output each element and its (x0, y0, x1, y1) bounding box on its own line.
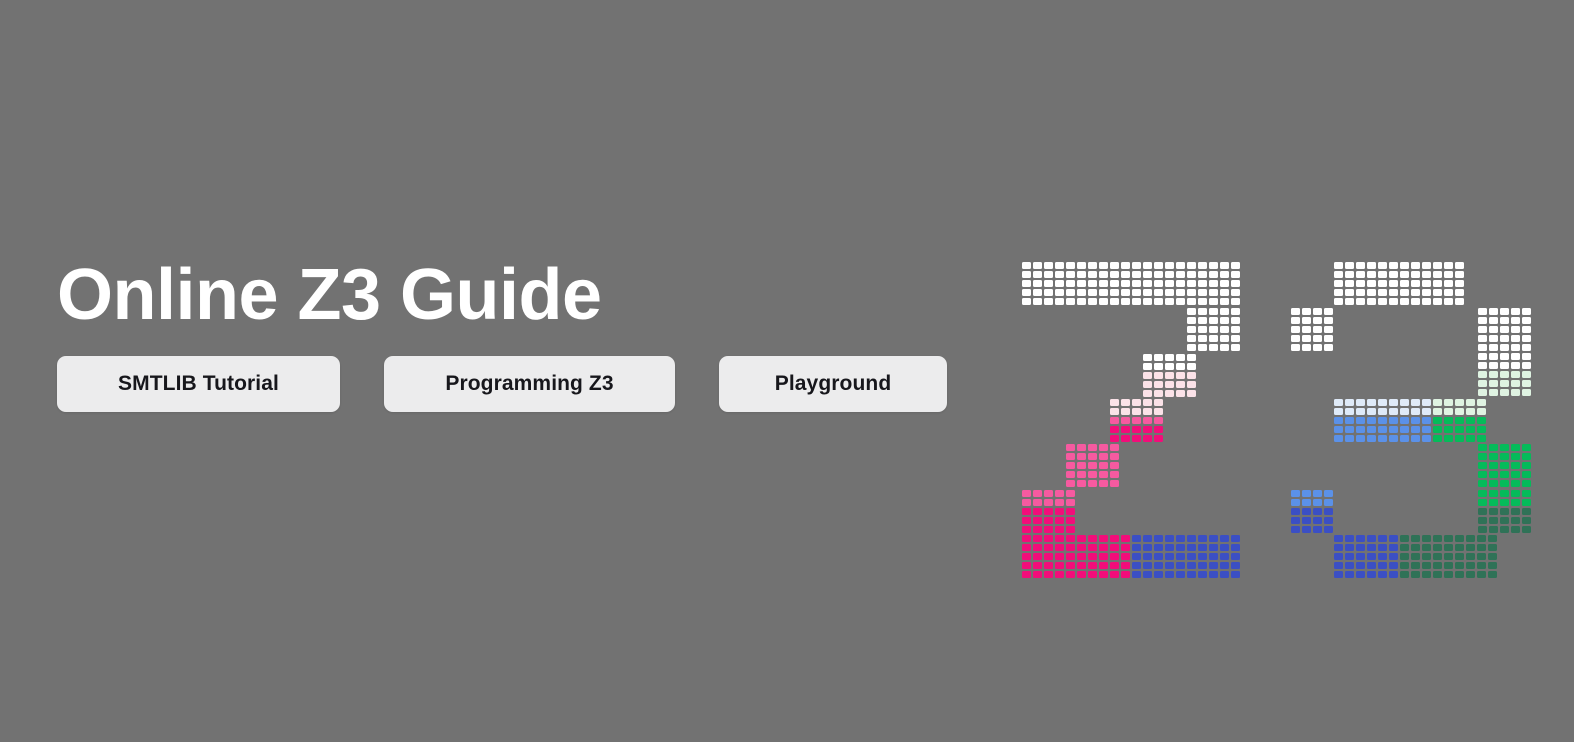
logo-pixel (1077, 562, 1086, 569)
logo-pixel (1110, 571, 1119, 578)
logo-pixel (1154, 298, 1163, 305)
logo-pixel (1055, 526, 1064, 533)
logo-pixel (1367, 562, 1376, 569)
logo-pixel (1334, 435, 1343, 442)
logo-pixel (1478, 317, 1487, 324)
logo-pixel (1022, 280, 1031, 287)
logo-pixel (1022, 271, 1031, 278)
logo-pixel (1367, 535, 1376, 542)
logo-pixel (1511, 471, 1520, 478)
logo-pixel (1143, 390, 1152, 397)
playground-button[interactable]: Playground (719, 356, 947, 412)
logo-pixel (1209, 535, 1218, 542)
logo-pixel (1165, 298, 1174, 305)
logo-pixel (1324, 490, 1333, 497)
logo-pixel (1488, 553, 1497, 560)
logo-pixel (1055, 262, 1064, 269)
logo-pixel (1466, 544, 1475, 551)
logo-pixel (1500, 490, 1509, 497)
logo-pixel (1378, 426, 1387, 433)
logo-pixel (1367, 289, 1376, 296)
logo-pixel (1345, 535, 1354, 542)
logo-pixel (1110, 435, 1119, 442)
logo-pixel (1389, 298, 1398, 305)
logo-pixel (1444, 262, 1453, 269)
logo-pixel (1066, 271, 1075, 278)
logo-pixel (1055, 535, 1064, 542)
logo-pixel (1198, 535, 1207, 542)
logo-pixel (1154, 354, 1163, 361)
logo-pixel (1455, 408, 1464, 415)
logo-pixel (1411, 435, 1420, 442)
logo-pixel (1345, 408, 1354, 415)
logo-pixel (1121, 535, 1130, 542)
logo-pixel (1176, 280, 1185, 287)
logo-pixel (1367, 399, 1376, 406)
logo-pixel (1198, 280, 1207, 287)
logo-pixel (1154, 417, 1163, 424)
logo-pixel (1088, 271, 1097, 278)
logo-block-3-top-bar (1334, 262, 1464, 305)
logo-pixel (1132, 571, 1141, 578)
programming-z3-button[interactable]: Programming Z3 (384, 356, 675, 412)
logo-pixel (1044, 544, 1053, 551)
logo-pixel (1302, 308, 1311, 315)
logo-pixel (1400, 544, 1409, 551)
logo-pixel (1121, 289, 1130, 296)
logo-pixel (1511, 444, 1520, 451)
logo-pixel (1231, 326, 1240, 333)
logo-pixel (1356, 544, 1365, 551)
logo-pixel (1477, 544, 1486, 551)
logo-pixel (1367, 417, 1376, 424)
logo-pixel (1088, 262, 1097, 269)
logo-pixel (1334, 571, 1343, 578)
logo-pixel (1400, 426, 1409, 433)
logo-pixel (1165, 571, 1174, 578)
logo-pixel (1356, 571, 1365, 578)
logo-pixel (1088, 298, 1097, 305)
logo-pixel (1209, 317, 1218, 324)
logo-pixel (1099, 535, 1108, 542)
logo-pixel (1500, 353, 1509, 360)
logo-pixel (1165, 544, 1174, 551)
logo-pixel (1455, 435, 1464, 442)
logo-pixel (1143, 262, 1152, 269)
logo-pixel (1044, 517, 1053, 524)
logo-pixel (1165, 280, 1174, 287)
logo-pixel (1500, 499, 1509, 506)
logo-pixel (1400, 271, 1409, 278)
logo-pixel (1110, 426, 1119, 433)
logo-pixel (1187, 262, 1196, 269)
logo-pixel (1220, 262, 1229, 269)
logo-pixel (1066, 535, 1075, 542)
logo-pixel (1489, 362, 1498, 369)
logo-pixel (1176, 381, 1185, 388)
logo-pixel (1334, 408, 1343, 415)
logo-pixel (1110, 399, 1119, 406)
logo-pixel (1231, 317, 1240, 324)
logo-pixel (1198, 298, 1207, 305)
logo-block-z-bottom-bar-left (1022, 535, 1130, 578)
logo-pixel (1132, 417, 1141, 424)
logo-pixel (1367, 271, 1376, 278)
logo-pixel (1334, 262, 1343, 269)
logo-pixel (1198, 562, 1207, 569)
logo-pixel (1302, 517, 1311, 524)
logo-pixel (1121, 571, 1130, 578)
logo-block-z-top-bar (1022, 262, 1240, 305)
logo-pixel (1176, 298, 1185, 305)
logo-pixel (1500, 362, 1509, 369)
logo-pixel (1066, 462, 1075, 469)
logo-pixel (1511, 508, 1520, 515)
logo-pixel (1176, 535, 1185, 542)
logo-pixel (1165, 553, 1174, 560)
logo-pixel (1187, 308, 1196, 315)
logo-pixel (1154, 426, 1163, 433)
logo-pixel (1378, 399, 1387, 406)
logo-pixel (1356, 408, 1365, 415)
logo-pixel (1176, 363, 1185, 370)
logo-pixel (1187, 326, 1196, 333)
logo-pixel (1367, 262, 1376, 269)
logo-pixel (1466, 535, 1475, 542)
logo-block-z-step-3 (1066, 444, 1119, 487)
logo-pixel (1500, 389, 1509, 396)
logo-pixel (1522, 471, 1531, 478)
logo-pixel (1033, 562, 1042, 569)
logo-pixel (1066, 480, 1075, 487)
logo-pixel (1291, 517, 1300, 524)
logo-pixel (1121, 426, 1130, 433)
logo-pixel (1154, 553, 1163, 560)
logo-pixel (1334, 280, 1343, 287)
logo-pixel (1154, 390, 1163, 397)
logo-pixel (1356, 280, 1365, 287)
logo-pixel (1356, 417, 1365, 424)
logo-pixel (1165, 271, 1174, 278)
logo-pixel (1165, 562, 1174, 569)
logo-pixel (1187, 335, 1196, 342)
logo-pixel (1489, 444, 1498, 451)
logo-pixel (1334, 535, 1343, 542)
logo-pixel (1389, 426, 1398, 433)
logo-pixel (1422, 417, 1431, 424)
logo-pixel (1220, 271, 1229, 278)
logo-pixel (1324, 335, 1333, 342)
logo-pixel (1324, 499, 1333, 506)
logo-pixel (1099, 553, 1108, 560)
logo-pixel (1444, 280, 1453, 287)
logo-pixel (1367, 408, 1376, 415)
logo-pixel (1389, 435, 1398, 442)
logo-pixel (1154, 562, 1163, 569)
logo-pixel (1165, 535, 1174, 542)
logo-pixel (1455, 289, 1464, 296)
logo-pixel (1220, 289, 1229, 296)
logo-pixel (1055, 280, 1064, 287)
logo-pixel (1121, 435, 1130, 442)
logo-pixel (1477, 408, 1486, 415)
logo-pixel (1455, 571, 1464, 578)
logo-pixel (1345, 417, 1354, 424)
logo-pixel (1511, 335, 1520, 342)
logo-block-z-step-4 (1022, 490, 1075, 533)
logo-pixel (1489, 308, 1498, 315)
logo-pixel (1444, 289, 1453, 296)
logo-pixel (1143, 417, 1152, 424)
logo-pixel (1132, 426, 1141, 433)
logo-pixel (1345, 553, 1354, 560)
logo-pixel (1389, 280, 1398, 287)
logo-pixel (1500, 480, 1509, 487)
logo-pixel (1522, 462, 1531, 469)
logo-pixel (1088, 553, 1097, 560)
logo-pixel (1066, 508, 1075, 515)
logo-pixel (1389, 289, 1398, 296)
logo-pixel (1411, 262, 1420, 269)
logo-pixel (1176, 262, 1185, 269)
logo-pixel (1400, 289, 1409, 296)
logo-pixel (1055, 289, 1064, 296)
logo-pixel (1033, 508, 1042, 515)
logo-pixel (1411, 535, 1420, 542)
logo-pixel (1088, 544, 1097, 551)
logo-pixel (1500, 517, 1509, 524)
logo-pixel (1154, 544, 1163, 551)
logo-pixel (1522, 353, 1531, 360)
logo-pixel (1422, 435, 1431, 442)
logo-pixel (1231, 562, 1240, 569)
logo-pixel (1077, 553, 1086, 560)
logo-pixel (1400, 562, 1409, 569)
logo-pixel (1500, 317, 1509, 324)
logo-pixel (1489, 480, 1498, 487)
logo-pixel (1187, 280, 1196, 287)
logo-pixel (1356, 553, 1365, 560)
logo-pixel (1132, 408, 1141, 415)
logo-pixel (1433, 435, 1442, 442)
logo-pixel (1176, 553, 1185, 560)
logo-pixel (1033, 526, 1042, 533)
logo-pixel (1422, 426, 1431, 433)
logo-pixel (1110, 471, 1119, 478)
logo-pixel (1522, 499, 1531, 506)
logo-pixel (1066, 471, 1075, 478)
logo-pixel (1231, 535, 1240, 542)
logo-pixel (1522, 308, 1531, 315)
logo-pixel (1022, 499, 1031, 506)
logo-pixel (1022, 562, 1031, 569)
logo-pixel (1066, 562, 1075, 569)
logo-pixel (1478, 371, 1487, 378)
logo-block-z-bottom-bar-right (1132, 535, 1240, 578)
logo-pixel (1044, 289, 1053, 296)
logo-pixel (1231, 280, 1240, 287)
logo-pixel (1143, 271, 1152, 278)
logo-pixel (1478, 526, 1487, 533)
logo-pixel (1110, 453, 1119, 460)
logo-pixel (1433, 571, 1442, 578)
hero-content: Online Z3 Guide SMTLIB Tutorial Programm… (57, 258, 977, 412)
logo-pixel (1356, 562, 1365, 569)
logo-pixel (1345, 426, 1354, 433)
logo-pixel (1313, 344, 1322, 351)
logo-pixel (1132, 553, 1141, 560)
logo-pixel (1522, 444, 1531, 451)
logo-pixel (1209, 562, 1218, 569)
logo-pixel (1231, 298, 1240, 305)
logo-pixel (1422, 298, 1431, 305)
logo-pixel (1324, 526, 1333, 533)
logo-pixel (1033, 553, 1042, 560)
logo-pixel (1143, 289, 1152, 296)
logo-pixel (1334, 271, 1343, 278)
logo-pixel (1389, 262, 1398, 269)
logo-pixel (1400, 553, 1409, 560)
logo-pixel (1066, 262, 1075, 269)
logo-pixel (1022, 289, 1031, 296)
logo-pixel (1500, 462, 1509, 469)
logo-pixel (1455, 271, 1464, 278)
logo-pixel (1334, 417, 1343, 424)
logo-pixel (1378, 553, 1387, 560)
logo-pixel (1220, 562, 1229, 569)
logo-pixel (1356, 435, 1365, 442)
logo-pixel (1334, 544, 1343, 551)
logo-pixel (1033, 289, 1042, 296)
logo-pixel (1511, 326, 1520, 333)
logo-pixel (1187, 372, 1196, 379)
logo-pixel (1433, 399, 1442, 406)
logo-pixel (1367, 298, 1376, 305)
logo-pixel (1324, 508, 1333, 515)
logo-pixel (1389, 562, 1398, 569)
logo-pixel (1110, 444, 1119, 451)
logo-pixel (1478, 462, 1487, 469)
logo-pixel (1389, 399, 1398, 406)
logo-pixel (1066, 289, 1075, 296)
logo-pixel (1121, 262, 1130, 269)
logo-pixel (1500, 471, 1509, 478)
logo-pixel (1411, 544, 1420, 551)
logo-pixel (1055, 298, 1064, 305)
logo-pixel (1220, 553, 1229, 560)
logo-pixel (1378, 280, 1387, 287)
logo-pixel (1044, 535, 1053, 542)
logo-pixel (1500, 308, 1509, 315)
logo-pixel (1154, 408, 1163, 415)
logo-pixel (1022, 553, 1031, 560)
logo-pixel (1055, 271, 1064, 278)
logo-pixel (1110, 408, 1119, 415)
logo-pixel (1313, 490, 1322, 497)
logo-pixel (1522, 362, 1531, 369)
logo-pixel (1411, 298, 1420, 305)
logo-pixel (1378, 262, 1387, 269)
logo-pixel (1444, 426, 1453, 433)
logo-pixel (1433, 289, 1442, 296)
logo-pixel (1511, 371, 1520, 378)
logo-pixel (1187, 571, 1196, 578)
logo-pixel (1154, 571, 1163, 578)
logo-pixel (1334, 289, 1343, 296)
logo-pixel (1110, 271, 1119, 278)
logo-pixel (1033, 517, 1042, 524)
logo-pixel (1477, 399, 1486, 406)
logo-pixel (1143, 280, 1152, 287)
logo-pixel (1132, 535, 1141, 542)
logo-pixel (1324, 326, 1333, 333)
logo-pixel (1077, 453, 1086, 460)
logo-pixel (1066, 280, 1075, 287)
logo-pixel (1220, 544, 1229, 551)
logo-pixel (1511, 462, 1520, 469)
logo-pixel (1478, 389, 1487, 396)
logo-pixel (1389, 271, 1398, 278)
logo-pixel (1291, 344, 1300, 351)
logo-pixel (1143, 408, 1152, 415)
logo-pixel (1066, 499, 1075, 506)
logo-pixel (1455, 544, 1464, 551)
logo-pixel (1511, 344, 1520, 351)
logo-pixel (1044, 490, 1053, 497)
smtlib-tutorial-button[interactable]: SMTLIB Tutorial (57, 356, 340, 412)
logo-pixel (1143, 399, 1152, 406)
logo-pixel (1231, 571, 1240, 578)
logo-pixel (1099, 280, 1108, 287)
logo-pixel (1077, 571, 1086, 578)
logo-pixel (1099, 298, 1108, 305)
logo-pixel (1143, 571, 1152, 578)
logo-pixel (1110, 289, 1119, 296)
logo-pixel (1378, 544, 1387, 551)
logo-pixel (1444, 399, 1453, 406)
logo-pixel (1422, 271, 1431, 278)
logo-pixel (1022, 571, 1031, 578)
logo-pixel (1400, 262, 1409, 269)
logo-pixel (1400, 280, 1409, 287)
logo-block-z-step-1 (1143, 354, 1196, 397)
logo-pixel (1422, 562, 1431, 569)
logo-pixel (1066, 490, 1075, 497)
logo-pixel (1477, 562, 1486, 569)
logo-pixel (1291, 326, 1300, 333)
logo-pixel (1187, 298, 1196, 305)
logo-block-z-top-descender (1187, 308, 1240, 351)
logo-pixel (1511, 389, 1520, 396)
logo-pixel (1356, 426, 1365, 433)
logo-pixel (1444, 408, 1453, 415)
logo-pixel (1378, 271, 1387, 278)
logo-pixel (1187, 381, 1196, 388)
logo-pixel (1522, 326, 1531, 333)
logo-pixel (1132, 271, 1141, 278)
logo-pixel (1022, 490, 1031, 497)
logo-pixel (1522, 526, 1531, 533)
logo-pixel (1489, 371, 1498, 378)
logo-pixel (1422, 280, 1431, 287)
logo-pixel (1088, 444, 1097, 451)
logo-pixel (1302, 526, 1311, 533)
logo-pixel (1198, 271, 1207, 278)
logo-pixel (1389, 417, 1398, 424)
logo-pixel (1154, 381, 1163, 388)
logo-pixel (1022, 535, 1031, 542)
logo-pixel (1143, 535, 1152, 542)
